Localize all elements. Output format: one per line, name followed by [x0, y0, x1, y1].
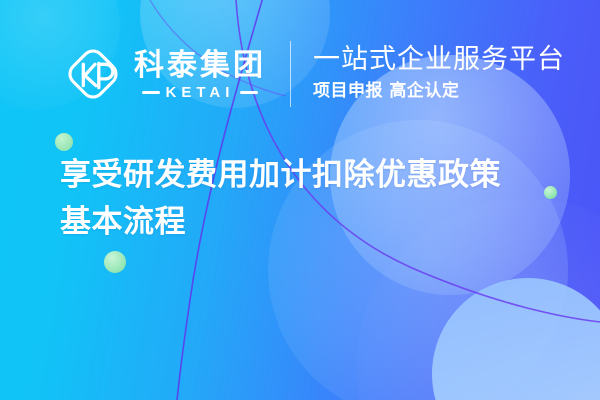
vertical-divider-icon [290, 41, 291, 107]
brand-lockup: 科泰集团 KETAI [62, 43, 266, 105]
brand-en-row: KETAI [142, 85, 259, 100]
headline-line-2: 基本流程 [60, 199, 560, 246]
brand-name-cn: 科泰集团 [134, 50, 266, 82]
green-dot-left-upper [55, 133, 73, 151]
tagline-block: 一站式企业服务平台 项目申报 高企认定 [313, 45, 565, 102]
dash-rule-left-icon [142, 91, 160, 94]
green-dot-left-lower [104, 251, 126, 273]
banner-header: 科泰集团 KETAI 一站式企业服务平台 项目申报 高企认定 [0, 34, 600, 114]
tagline-main: 一站式企业服务平台 [313, 45, 565, 75]
ketai-diamond-logo-icon [62, 43, 124, 105]
brand-wordmark: 科泰集团 KETAI [134, 50, 266, 100]
brand-name-en: KETAI [166, 85, 235, 100]
headline-block: 享受研发费用加计扣除优惠政策 基本流程 [60, 152, 560, 246]
tagline-sub: 项目申报 高企认定 [313, 80, 565, 103]
dash-rule-right-icon [240, 91, 258, 94]
promo-banner: 科泰集团 KETAI 一站式企业服务平台 项目申报 高企认定 享受研发费用加计扣… [0, 0, 600, 400]
headline-line-1: 享受研发费用加计扣除优惠政策 [60, 152, 560, 199]
bright-circle-bottom-right [432, 278, 600, 400]
